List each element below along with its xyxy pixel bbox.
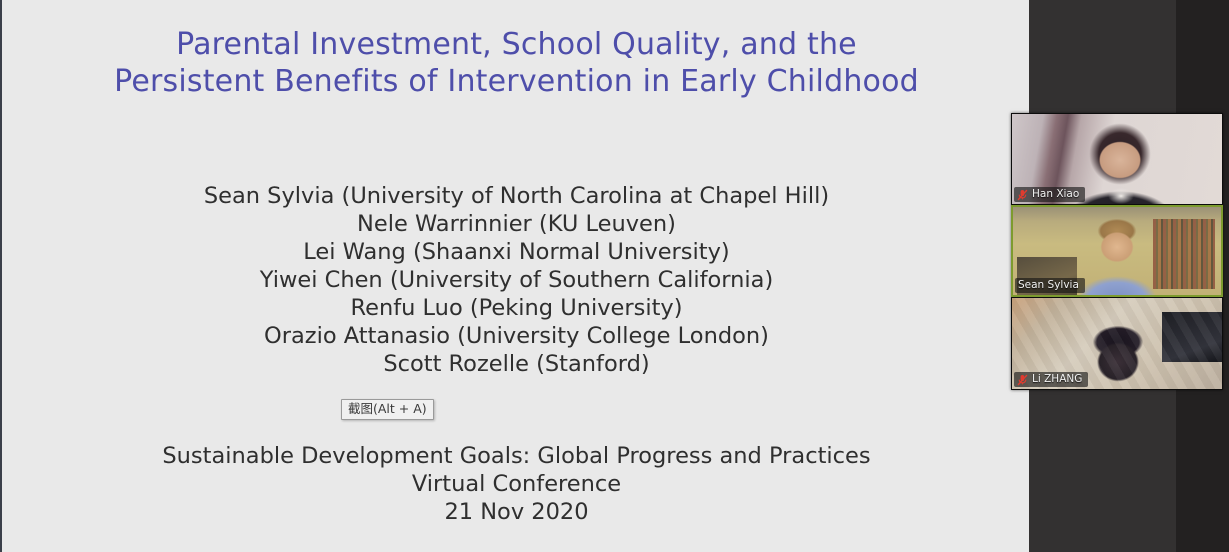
screen-share-meeting-window: Parental Investment, School Quality, and… — [0, 0, 1229, 552]
author-line: Yiwei Chen (University of Southern Calif… — [2, 266, 1029, 294]
participant-name-tag: Sean Sylvia — [1015, 278, 1085, 293]
participant-name-tag: Li ZHANG — [1014, 372, 1088, 387]
participant-name: Han Xiao — [1032, 187, 1079, 202]
author-line: Nele Warrinnier (KU Leuven) — [2, 210, 1029, 238]
slide-title: Parental Investment, School Quality, and… — [2, 26, 1029, 100]
microphone-muted-icon — [1017, 189, 1028, 201]
participant-name: Sean Sylvia — [1018, 278, 1079, 293]
participant-video-strip[interactable]: Han Xiao Sean Sylvia — [1011, 113, 1223, 390]
conference-name: Sustainable Development Goals: Global Pr… — [2, 442, 1029, 470]
microphone-muted-icon — [1017, 374, 1028, 386]
conference-format: Virtual Conference — [2, 470, 1029, 498]
video-tile-sean-sylvia[interactable]: Sean Sylvia — [1011, 205, 1223, 297]
venue-block: Sustainable Development Goals: Global Pr… — [2, 442, 1029, 526]
author-line: Scott Rozelle (Stanford) — [2, 350, 1029, 378]
author-line: Renfu Luo (Peking University) — [2, 294, 1029, 322]
screen-capture-tooltip[interactable]: 截图(Alt + A) — [341, 399, 434, 420]
author-line: Lei Wang (Shaanxi Normal University) — [2, 238, 1029, 266]
conference-date: 21 Nov 2020 — [2, 498, 1029, 526]
video-tile-han-xiao[interactable]: Han Xiao — [1011, 113, 1223, 205]
participant-name: Li ZHANG — [1032, 372, 1082, 387]
video-tile-li-zhang[interactable]: Li ZHANG — [1011, 297, 1223, 390]
author-line: Sean Sylvia (University of North Carolin… — [2, 182, 1029, 210]
participant-name-tag: Han Xiao — [1014, 187, 1085, 202]
shared-screen-slide: Parental Investment, School Quality, and… — [0, 0, 1029, 552]
slide-content: Parental Investment, School Quality, and… — [2, 0, 1029, 552]
author-list: Sean Sylvia (University of North Carolin… — [2, 182, 1029, 378]
author-line: Orazio Attanasio (University College Lon… — [2, 322, 1029, 350]
